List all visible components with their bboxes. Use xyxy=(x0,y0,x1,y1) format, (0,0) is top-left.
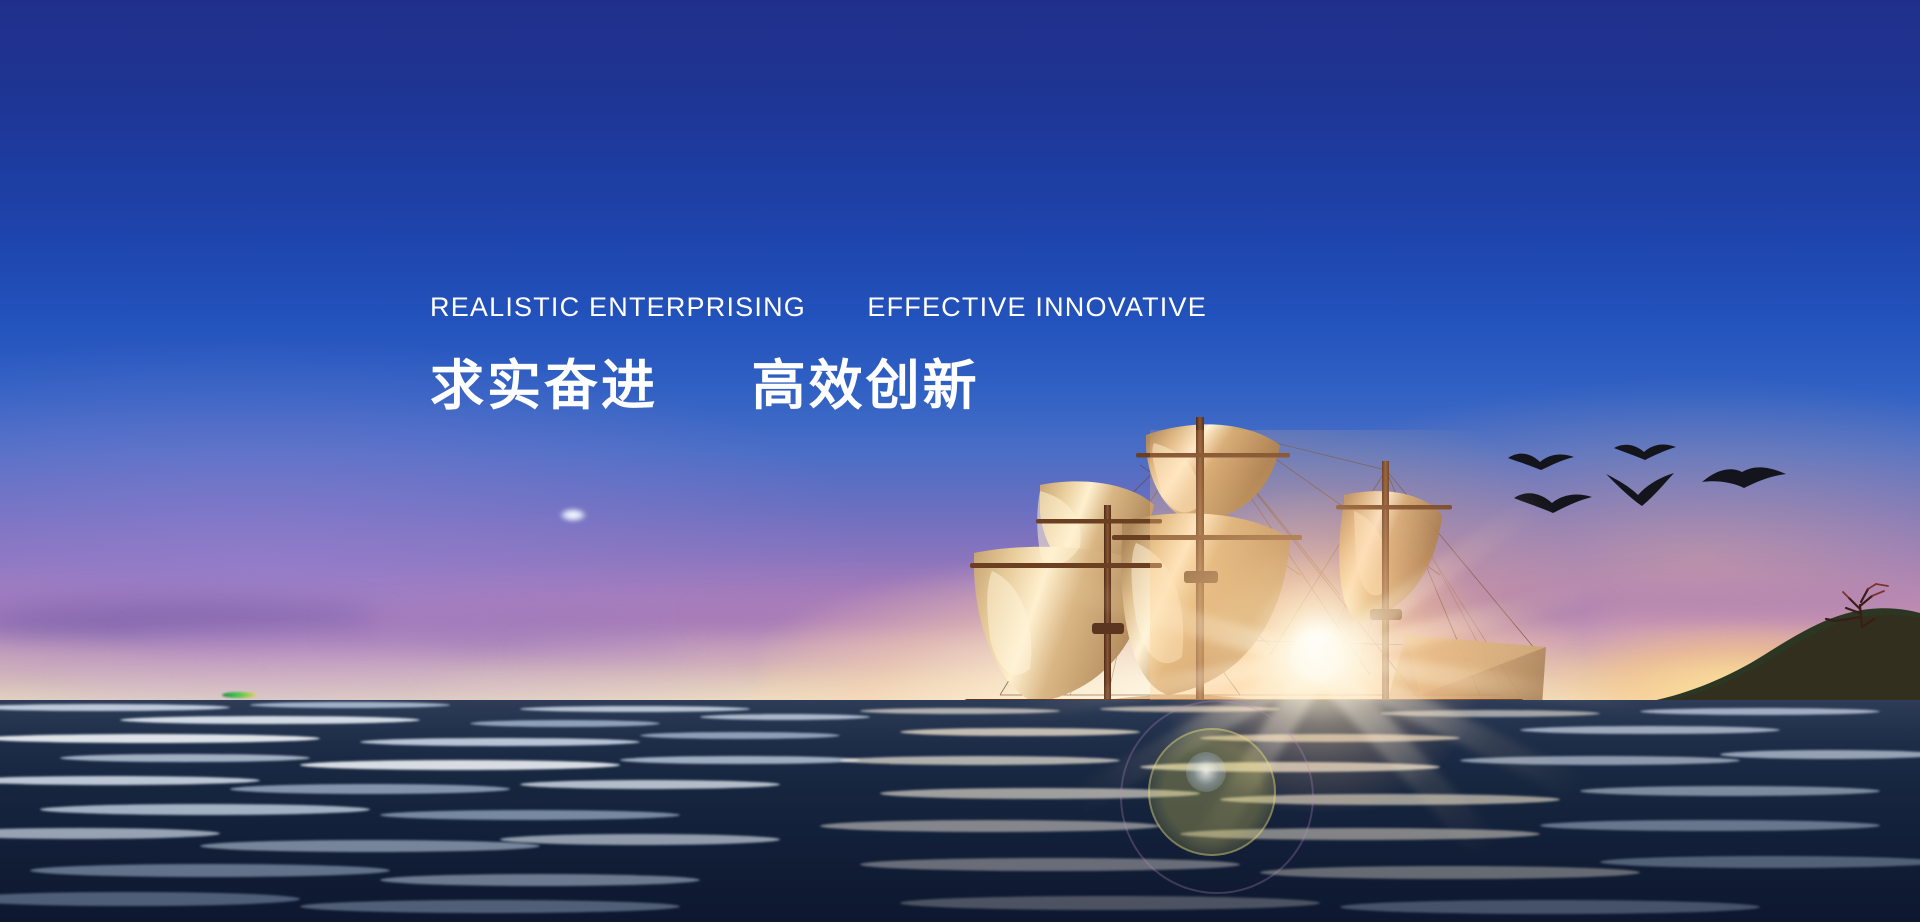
headline-chinese-left: 求实奋进 xyxy=(430,354,658,417)
hero-banner: REALISTIC ENTERPRISING EFFECTIVE INNOVAT… xyxy=(0,0,1920,922)
bird-icon xyxy=(1700,462,1788,502)
star-icon xyxy=(559,508,587,522)
bird-icon xyxy=(1612,440,1678,470)
headline-english-left: REALISTIC ENTERPRISING xyxy=(430,292,806,322)
headline-chinese-right: 高效创新 xyxy=(752,354,980,417)
headline-chinese: 求实奋进 高效创新 xyxy=(430,341,1207,420)
headline-english-right: EFFECTIVE INNOVATIVE xyxy=(867,292,1207,322)
green-streak-artifact xyxy=(222,692,256,698)
headline-english: REALISTIC ENTERPRISING EFFECTIVE INNOVAT… xyxy=(430,292,1207,324)
headline-block: REALISTIC ENTERPRISING EFFECTIVE INNOVAT… xyxy=(430,292,1207,420)
island-hill xyxy=(1640,575,1920,710)
bird-icon xyxy=(1604,470,1680,514)
ocean xyxy=(0,700,1920,922)
